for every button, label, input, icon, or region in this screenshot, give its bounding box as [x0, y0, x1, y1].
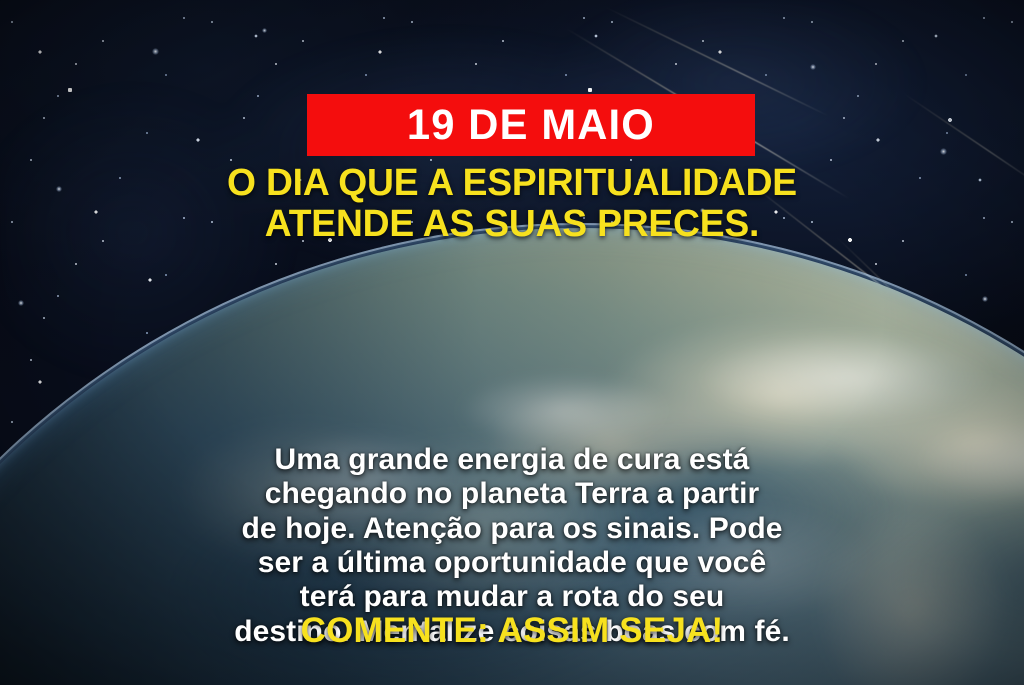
poster-canvas: 19 DE MAIO O DIA QUE A ESPIRITUALIDADE A…	[0, 0, 1024, 685]
date-banner-label: 19 DE MAIO	[407, 104, 655, 147]
poster-content: 19 DE MAIO O DIA QUE A ESPIRITUALIDADE A…	[0, 0, 1024, 685]
headline-line-1: O DIA QUE A ESPIRITUALIDADE	[10, 163, 1014, 204]
body-line-4: ser a última oportunidade que você	[0, 546, 1024, 580]
headline: O DIA QUE A ESPIRITUALIDADE ATENDE AS SU…	[0, 163, 1024, 245]
body-line-3: de hoje. Atenção para os sinais. Pode	[0, 512, 1024, 546]
body-line-5: terá para mudar a rota do seu	[0, 580, 1024, 614]
date-banner: 19 DE MAIO	[307, 94, 755, 156]
call-to-action: COMENTE: ASSIM SEJA!	[0, 613, 1024, 648]
body-line-1: Uma grande energia de cura está	[0, 443, 1024, 477]
body-line-2: chegando no planeta Terra a partir	[0, 477, 1024, 511]
headline-line-2: ATENDE AS SUAS PRECES.	[10, 204, 1014, 245]
